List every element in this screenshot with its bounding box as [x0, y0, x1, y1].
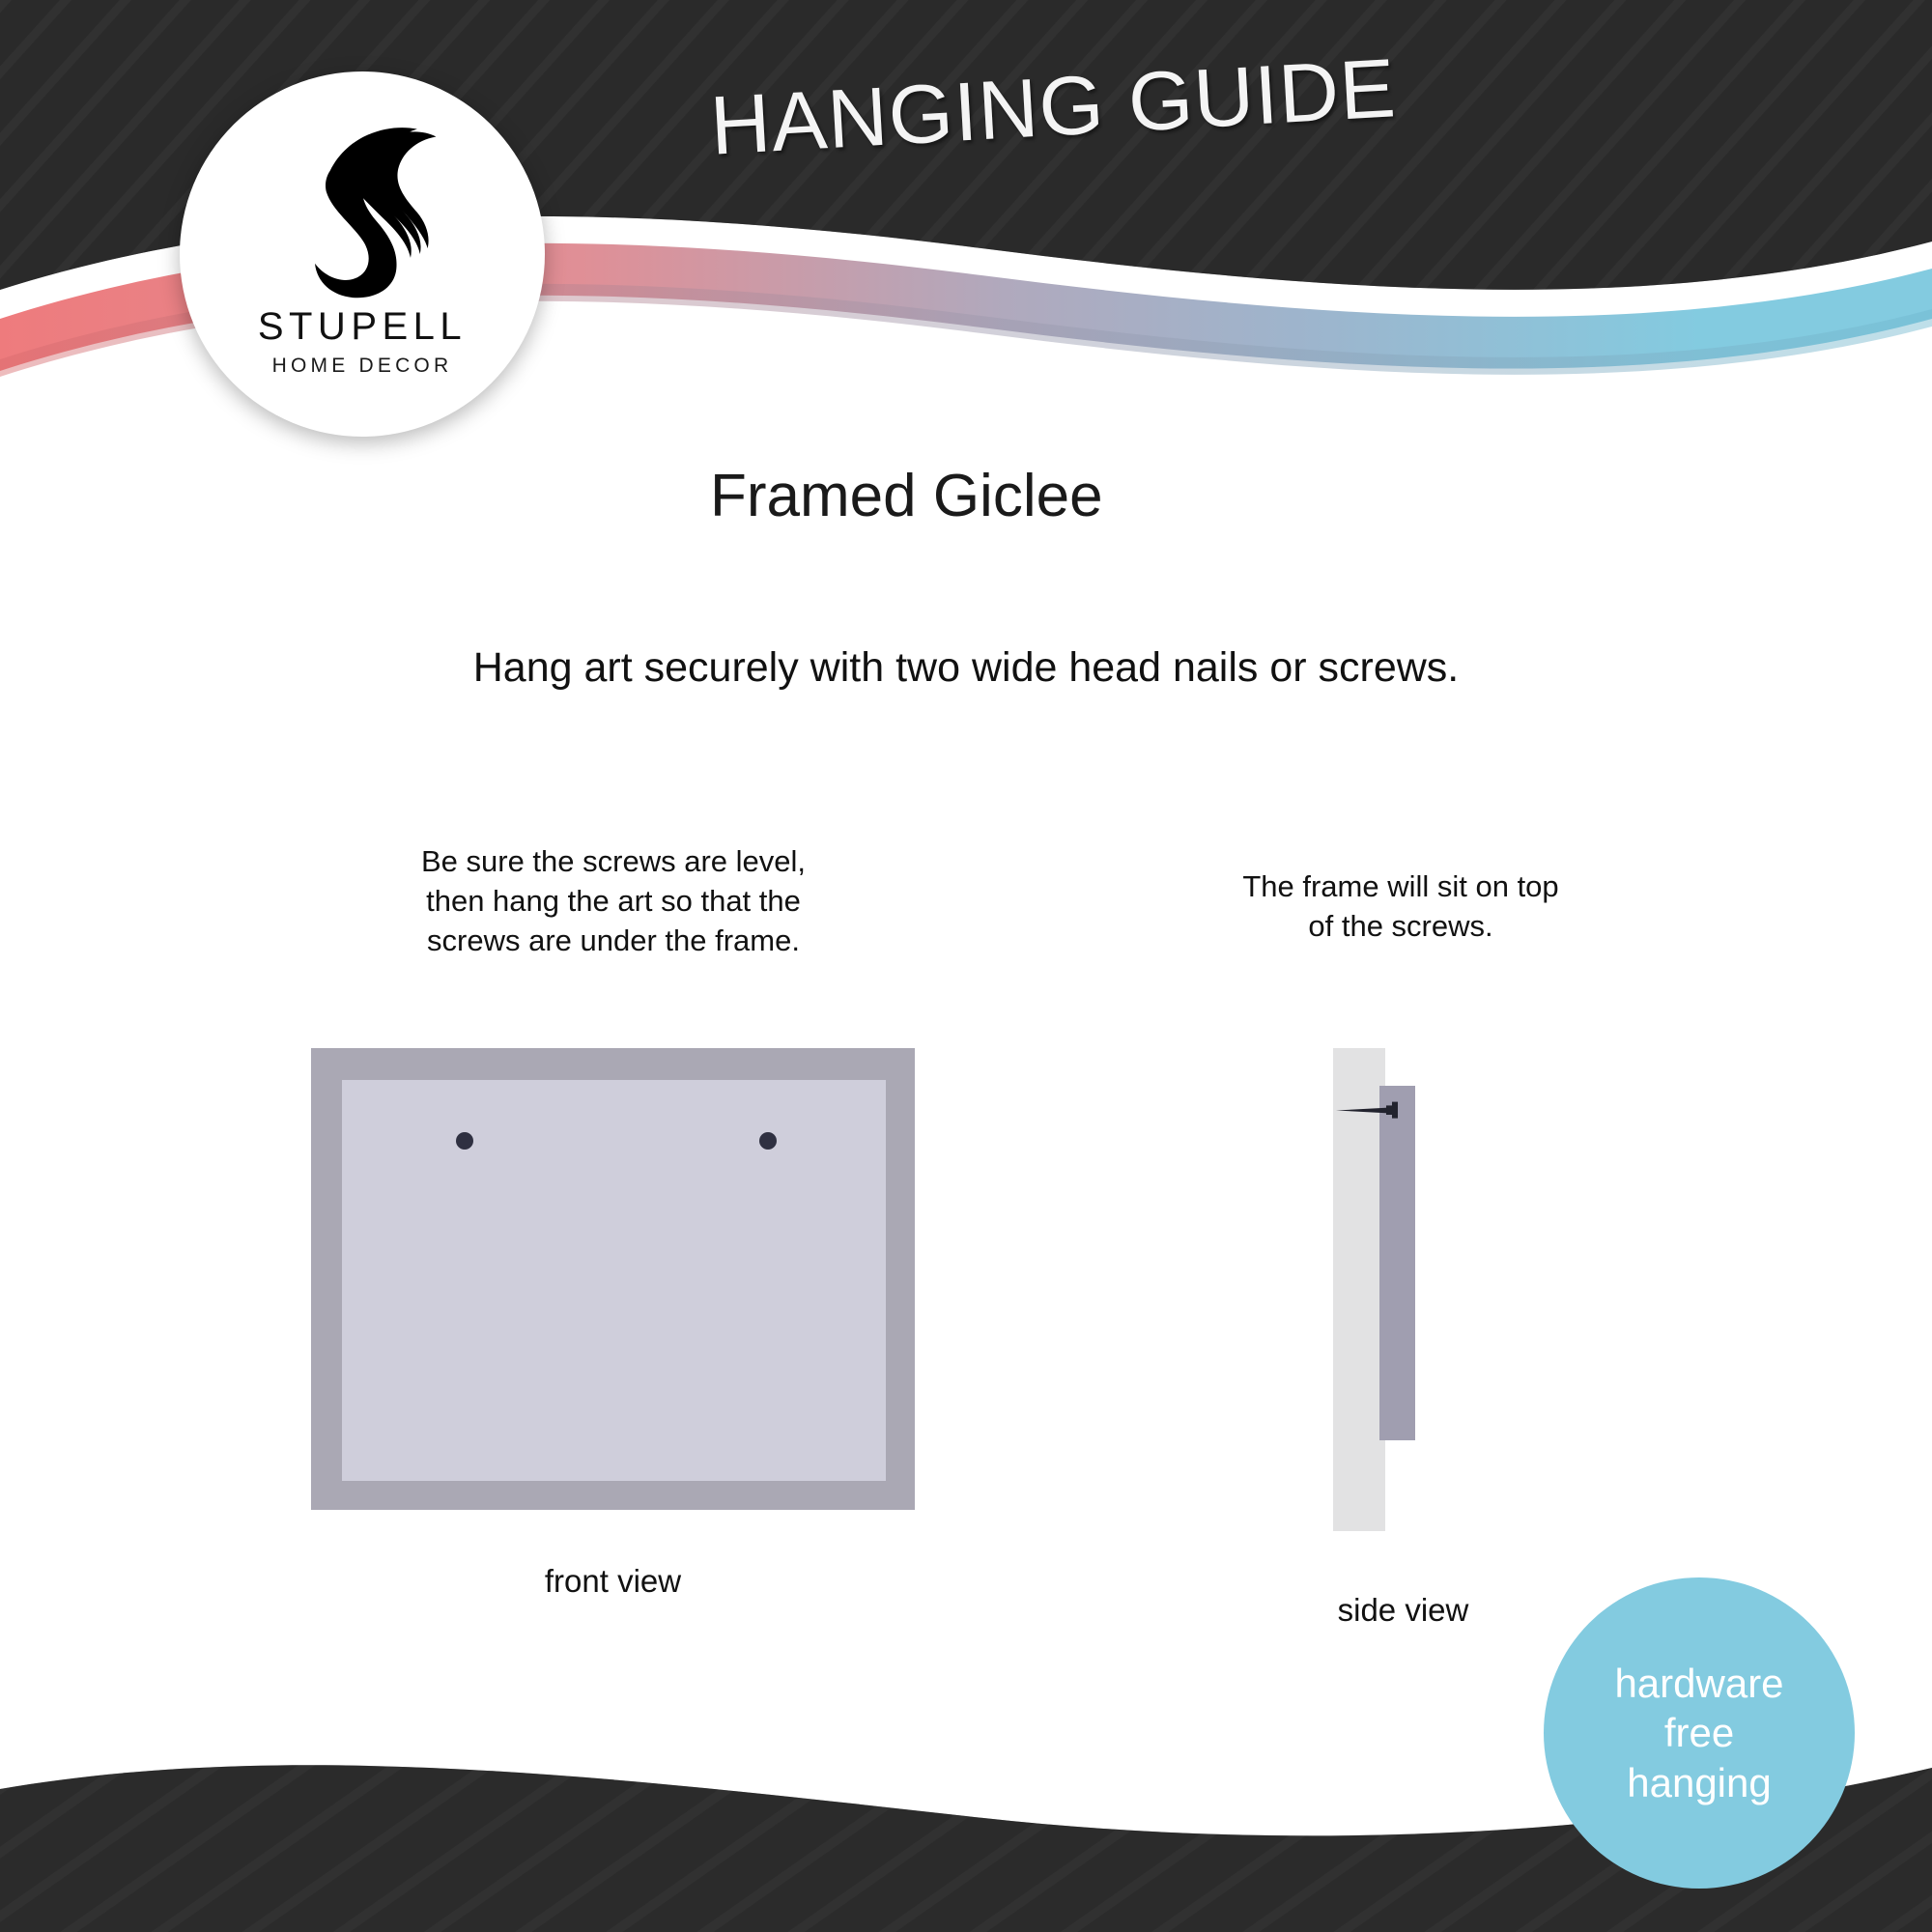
wall-strip: [1333, 1048, 1385, 1531]
hardware-free-hanging-badge: hardware free hanging: [1544, 1577, 1855, 1889]
front-view-art-panel: [342, 1080, 886, 1481]
hanging-guide-page: STUPELL HOME DECOR HANGING GUIDE Framed …: [0, 0, 1932, 1932]
screw-dot-right: [759, 1132, 777, 1150]
screw-dot-left: [456, 1132, 473, 1150]
side-caption-line-1: The frame will sit on top: [1063, 867, 1739, 907]
front-caption-line-1: Be sure the screws are level,: [275, 842, 952, 882]
badge-line-1: hardware: [1614, 1659, 1783, 1708]
side-view-diagram: [1333, 1048, 1478, 1531]
logo-tagline: HOME DECOR: [272, 355, 453, 376]
badge-line-3: hanging: [1627, 1758, 1771, 1807]
front-caption-line-2: then hang the art so that the: [275, 882, 952, 922]
product-type-title: Framed Giclee: [710, 462, 1103, 530]
lead-instruction: Hang art securely with two wide head nai…: [0, 644, 1932, 692]
front-view-caption: Be sure the screws are level, then hang …: [275, 842, 952, 961]
logo-wordmark: STUPELL: [258, 307, 467, 346]
nail-icon: [1334, 1100, 1413, 1120]
front-view-diagram: [311, 1048, 915, 1510]
front-view-label: front view: [311, 1563, 915, 1600]
side-view-caption: The frame will sit on top of the screws.: [1063, 867, 1739, 947]
page-title: HANGING GUIDE: [708, 41, 1399, 175]
badge-line-2: free: [1664, 1708, 1734, 1757]
stupell-logo-badge: STUPELL HOME DECOR: [180, 71, 545, 437]
frame-strip: [1379, 1086, 1415, 1440]
front-caption-line-3: screws are under the frame.: [275, 922, 952, 961]
swan-s-icon: [275, 112, 449, 301]
side-caption-line-2: of the screws.: [1063, 907, 1739, 947]
